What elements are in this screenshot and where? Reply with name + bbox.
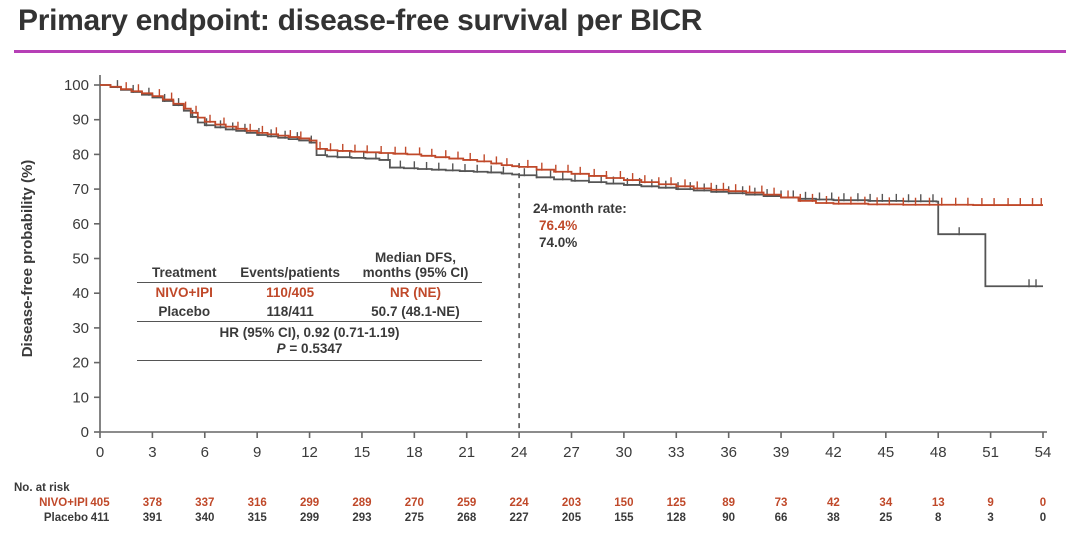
risk-value: 227 [502,512,536,524]
risk-value: 0 [1026,512,1060,524]
risk-value: 268 [450,512,484,524]
x-tick-label: 0 [96,444,104,460]
p-value: = 0.5347 [289,341,342,356]
y-tick-label: 40 [72,285,89,302]
risk-value: 259 [450,497,484,509]
km-curve-nivo-ipi [100,85,1043,205]
y-tick-label: 70 [72,181,89,198]
summary-table-header-row: Treatment Events/patients Median DFS, mo… [137,248,482,283]
row-placebo-median: 50.7 (48.1-NE) [349,302,482,322]
risk-value: 316 [240,497,274,509]
risk-value: 8 [921,512,955,524]
risk-value: 337 [188,497,222,509]
y-tick-label: 90 [72,112,89,129]
risk-value: 150 [607,497,641,509]
y-tick-label: 60 [72,216,89,233]
summary-table: Treatment Events/patients Median DFS, mo… [137,248,482,361]
table-row: Placebo 118/411 50.7 (48.1-NE) [137,302,482,322]
risk-value: 155 [607,512,641,524]
x-tick-label: 42 [825,444,842,460]
risk-value: 128 [659,512,693,524]
risk-value: 34 [869,497,903,509]
risk-value: 13 [921,497,955,509]
y-tick-label: 20 [72,355,89,372]
hr-text: HR (95% CI), 0.92 (0.71-1.19) P = 0.5347 [137,322,482,361]
x-tick-label: 30 [616,444,633,460]
results-summary-table: Treatment Events/patients Median DFS, mo… [137,248,482,361]
row-nivo-events: 110/405 [231,283,349,302]
risk-value: 66 [764,512,798,524]
x-tick-label: 48 [930,444,947,460]
row-placebo-treatment: Placebo [137,302,231,322]
row-nivo-median: NR (NE) [349,283,482,302]
risk-table-grid: NIVO+IPI40537833731629928927025922420315… [0,497,1080,527]
x-tick-label: 21 [458,444,475,460]
risk-value: 73 [764,497,798,509]
annotation-placebo-rate: 74.0% [533,234,627,251]
x-tick-label: 27 [563,444,580,460]
risk-value: 391 [135,512,169,524]
header-median-line1: Median DFS, [375,250,456,265]
table-row: NIVO+IPI 110/405 NR (NE) [137,283,482,302]
risk-value: 378 [135,497,169,509]
risk-value: 203 [555,497,589,509]
risk-value: 299 [293,497,327,509]
annotation-nivo-rate: 76.4% [533,217,627,234]
x-tick-label: 12 [301,444,318,460]
risk-value: 340 [188,512,222,524]
y-tick-label: 80 [72,146,89,163]
x-tick-label: 51 [982,444,999,460]
risk-table-title: No. at risk [14,482,70,494]
y-axis-title: Disease-free probability (%) [19,160,36,358]
x-tick-label: 9 [253,444,261,460]
y-tick-label: 0 [81,424,89,441]
annotation-header: 24-month rate: [533,200,627,217]
row-placebo-events: 118/411 [231,302,349,322]
risk-value: 42 [816,497,850,509]
risk-row: NIVO+IPI40537833731629928927025922420315… [0,497,1080,512]
risk-value: 270 [397,497,431,509]
header-median-line2: months (95% CI) [363,265,469,280]
header-events: Events/patients [231,248,349,283]
risk-row: Placebo411391340315299293275268227205155… [0,512,1080,527]
risk-value: 38 [816,512,850,524]
risk-row-label: Placebo [14,512,88,524]
x-tick-label: 6 [201,444,209,460]
risk-row-label: NIVO+IPI [14,497,88,509]
risk-value: 275 [397,512,431,524]
risk-value: 3 [974,512,1008,524]
x-tick-label: 18 [406,444,423,460]
risk-value: 293 [345,512,379,524]
risk-value: 25 [869,512,903,524]
y-tick-label: 50 [72,251,89,268]
x-tick-label: 24 [511,444,528,460]
risk-value: 315 [240,512,274,524]
x-tick-label: 45 [877,444,894,460]
risk-value: 224 [502,497,536,509]
24-month-rate-annotation: 24-month rate: 76.4% 74.0% [533,200,627,251]
risk-value: 90 [712,512,746,524]
y-tick-label: 30 [72,320,89,337]
y-tick-label: 10 [72,389,89,406]
risk-value: 9 [974,497,1008,509]
x-tick-label: 39 [773,444,790,460]
risk-value: 89 [712,497,746,509]
risk-value: 411 [83,512,117,524]
series-nivo-ipi [100,82,1043,206]
x-tick-label: 3 [148,444,156,460]
risk-value: 405 [83,497,117,509]
y-tick-label: 100 [64,77,89,94]
title-accent-rule [14,50,1066,53]
risk-value: 205 [555,512,589,524]
x-tick-label: 15 [354,444,371,460]
slide-root: Primary endpoint: disease-free survival … [0,0,1080,549]
table-rule-bottom [137,361,482,362]
risk-value: 125 [659,497,693,509]
x-tick-label: 33 [668,444,685,460]
risk-value: 289 [345,497,379,509]
x-tick-label: 36 [720,444,737,460]
risk-value: 0 [1026,497,1060,509]
page-title: Primary endpoint: disease-free survival … [18,4,702,38]
risk-value: 299 [293,512,327,524]
hazard-ratio-row: HR (95% CI), 0.92 (0.71-1.19) P = 0.5347 [137,322,482,361]
row-nivo-treatment: NIVO+IPI [137,283,231,302]
p-label: P [277,341,286,356]
x-tick-label: 54 [1035,444,1052,460]
header-median-dfs: Median DFS, months (95% CI) [349,248,482,283]
hr-value: HR (95% CI), 0.92 (0.71-1.19) [219,325,399,340]
header-treatment: Treatment [137,248,231,283]
